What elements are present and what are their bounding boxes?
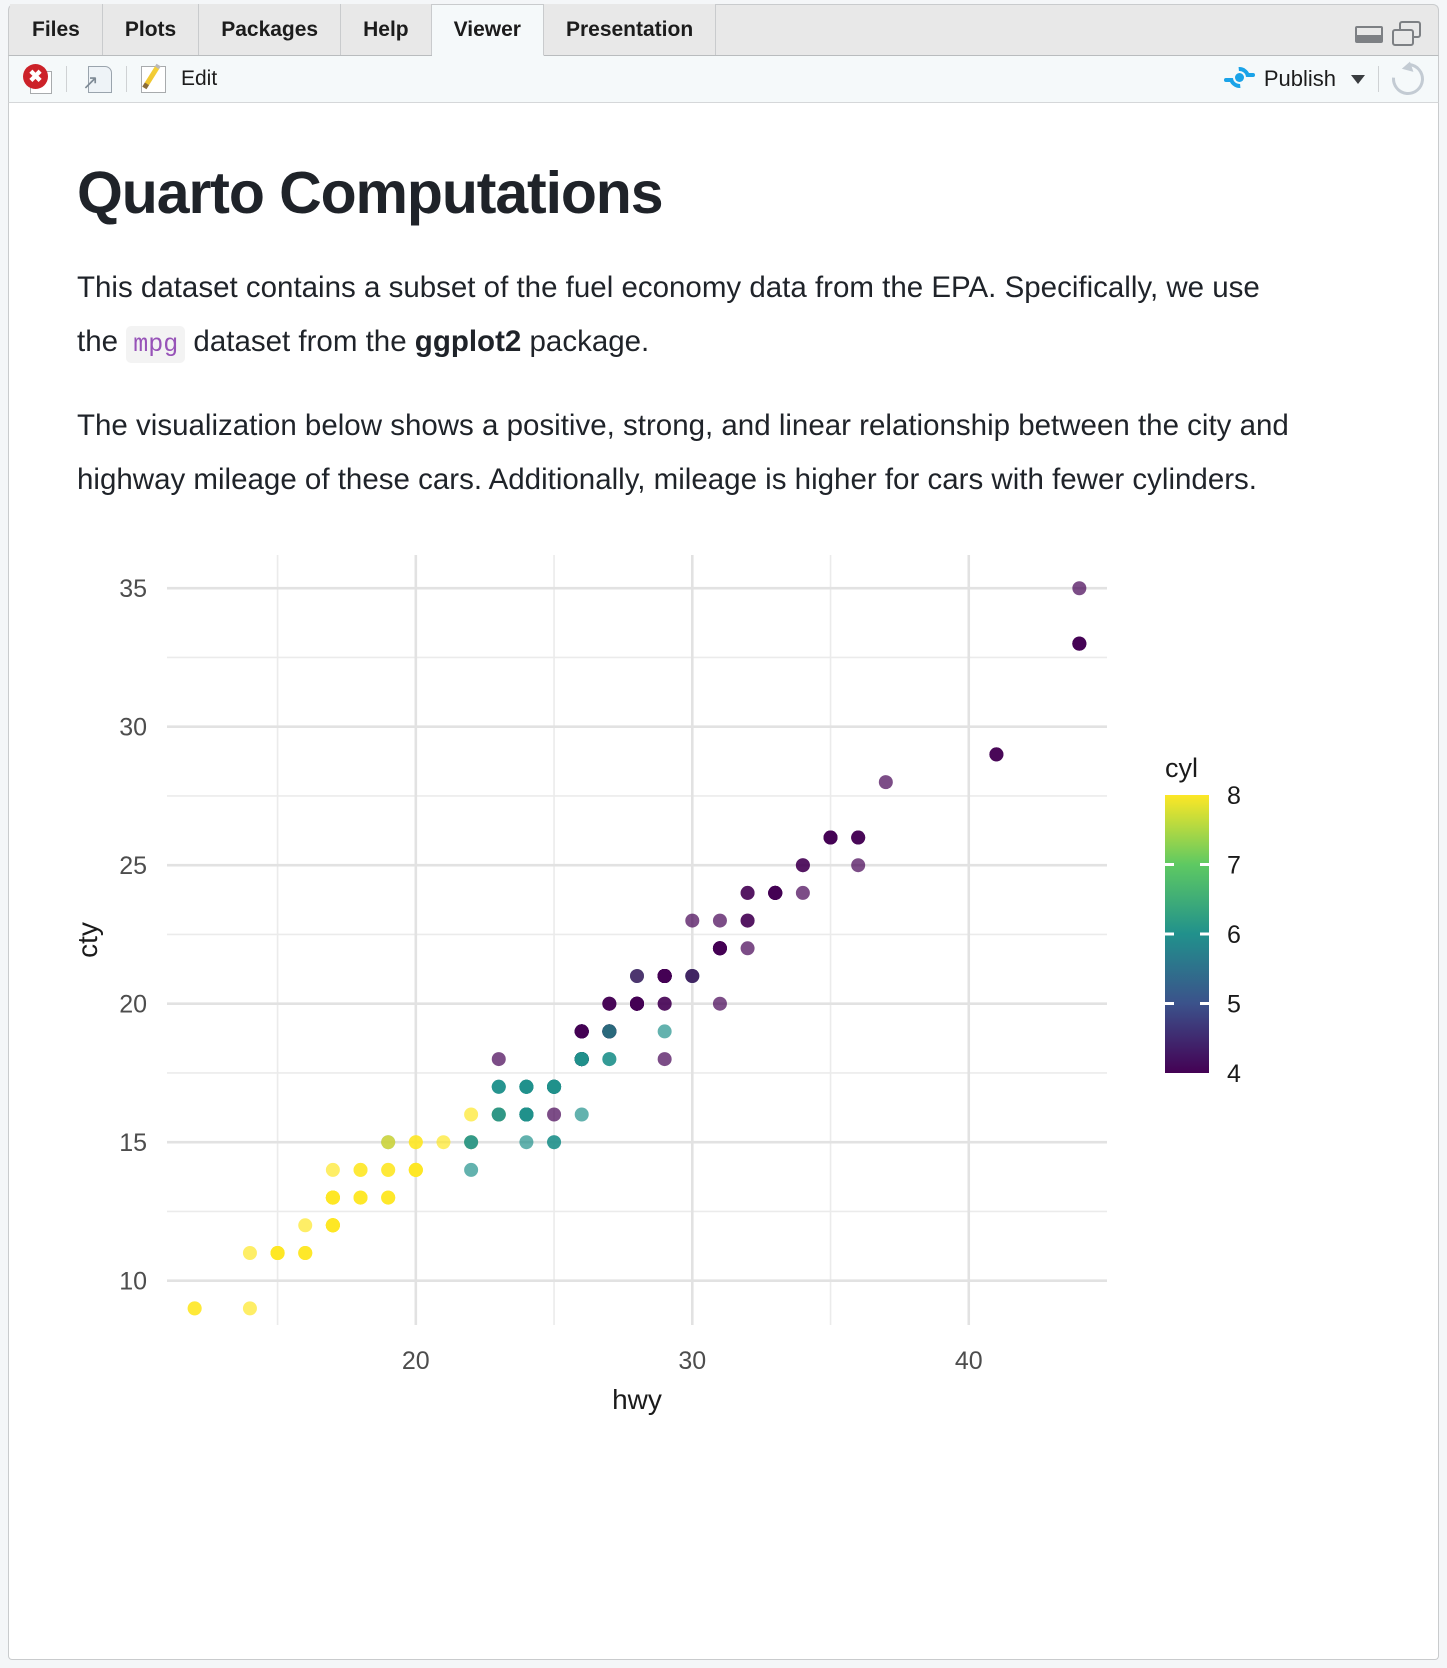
- data-point: [492, 1080, 506, 1094]
- data-point: [271, 1246, 285, 1260]
- data-point: [602, 1024, 616, 1038]
- data-point: [547, 1107, 561, 1121]
- data-point: [464, 1107, 478, 1121]
- tab-label: Packages: [221, 18, 318, 42]
- tab-packages[interactable]: Packages: [199, 4, 341, 55]
- inline-code-mpg: mpg: [126, 326, 185, 363]
- x-tick-label: 40: [955, 1347, 983, 1375]
- legend-title: cyl: [1165, 753, 1198, 783]
- y-tick-label: 10: [119, 1268, 147, 1296]
- data-point: [575, 1052, 589, 1066]
- plot-panel: [167, 555, 1107, 1325]
- data-point: [381, 1163, 395, 1177]
- viewer-content: Quarto Computations This dataset contain…: [8, 103, 1439, 1660]
- data-point: [409, 1135, 423, 1149]
- stop-button[interactable]: ✖: [23, 64, 53, 94]
- data-point: [575, 1107, 589, 1121]
- paragraph-visualization-description: The visualization below shows a positive…: [77, 399, 1292, 507]
- data-point: [1072, 581, 1086, 595]
- show-in-new-window-button[interactable]: ↗: [80, 64, 113, 94]
- data-point: [768, 886, 782, 900]
- y-tick-label: 30: [119, 714, 147, 742]
- data-point: [464, 1163, 478, 1177]
- data-point: [658, 997, 672, 1011]
- data-point: [685, 914, 699, 928]
- data-point: [713, 941, 727, 955]
- publish-label: Publish: [1264, 66, 1336, 92]
- legend-tick-label: 8: [1227, 782, 1241, 810]
- tab-help[interactable]: Help: [341, 4, 432, 55]
- y-tick-label: 20: [119, 991, 147, 1019]
- data-point: [602, 997, 616, 1011]
- data-point: [713, 914, 727, 928]
- refresh-icon[interactable]: [1385, 56, 1430, 101]
- paragraph-text: dataset from the: [185, 325, 415, 358]
- data-point: [464, 1135, 478, 1149]
- data-point: [547, 1135, 561, 1149]
- tab-plots[interactable]: Plots: [103, 4, 199, 55]
- data-point: [354, 1191, 368, 1205]
- data-point: [381, 1191, 395, 1205]
- data-point: [243, 1246, 257, 1260]
- legend-tick-label: 4: [1227, 1060, 1241, 1088]
- legend-tick-label: 7: [1227, 851, 1241, 879]
- data-point: [575, 1024, 589, 1038]
- tab-label: Help: [363, 18, 409, 42]
- data-point: [796, 886, 810, 900]
- edit-button[interactable]: Edit: [140, 64, 217, 94]
- tab-presentation[interactable]: Presentation: [544, 4, 716, 55]
- viewer-toolbar: ✖ ↗ Edit Publish: [8, 56, 1439, 103]
- data-point: [741, 941, 755, 955]
- viewer-pane: Files Plots Packages Help Viewer Present…: [8, 4, 1439, 1660]
- chevron-down-icon[interactable]: [1351, 75, 1365, 84]
- data-point: [851, 858, 865, 872]
- tab-label: Files: [32, 18, 80, 42]
- data-point: [989, 747, 1003, 761]
- edit-icon: [140, 64, 172, 94]
- data-point: [1072, 637, 1086, 651]
- data-point: [879, 775, 893, 789]
- publish-button[interactable]: Publish: [1224, 66, 1336, 92]
- tab-label: Presentation: [566, 18, 693, 42]
- paragraph-dataset-description: This dataset contains a subset of the fu…: [77, 261, 1292, 369]
- data-point: [436, 1135, 450, 1149]
- data-point: [824, 830, 838, 844]
- toolbar-divider: [126, 66, 127, 92]
- data-point: [298, 1246, 312, 1260]
- stop-icon: ✖: [23, 64, 53, 94]
- data-point: [326, 1163, 340, 1177]
- data-point: [519, 1080, 533, 1094]
- plot-svg: 203040101520253035hwyctycyl87654: [67, 537, 1307, 1437]
- tab-strip: Files Plots Packages Help Viewer Present…: [8, 4, 1439, 56]
- data-point: [713, 997, 727, 1011]
- maximize-icon[interactable]: [1392, 21, 1422, 47]
- data-point: [630, 969, 644, 983]
- toolbar-divider: [66, 66, 67, 92]
- legend-tick-label: 6: [1227, 921, 1241, 949]
- data-point: [602, 1052, 616, 1066]
- scatter-plot: 203040101520253035hwyctycyl87654: [67, 537, 1374, 1437]
- tab-label: Plots: [125, 18, 176, 42]
- data-point: [492, 1052, 506, 1066]
- y-axis-title: cty: [72, 922, 103, 958]
- data-point: [188, 1301, 202, 1315]
- data-point: [685, 969, 699, 983]
- data-point: [741, 886, 755, 900]
- tab-files[interactable]: Files: [10, 4, 103, 55]
- toolbar-divider: [1378, 66, 1379, 92]
- data-point: [492, 1107, 506, 1121]
- x-tick-label: 20: [402, 1347, 430, 1375]
- legend-tick-label: 5: [1227, 990, 1241, 1018]
- data-point: [519, 1135, 533, 1149]
- data-point: [658, 969, 672, 983]
- x-axis-title: hwy: [612, 1384, 662, 1415]
- data-point: [658, 1052, 672, 1066]
- data-point: [354, 1163, 368, 1177]
- y-tick-label: 35: [119, 575, 147, 603]
- show-in-new-window-icon: ↗: [80, 64, 113, 94]
- data-point: [796, 858, 810, 872]
- data-point: [243, 1301, 257, 1315]
- data-point: [547, 1080, 561, 1094]
- page-title: Quarto Computations: [77, 159, 1374, 227]
- data-point: [326, 1218, 340, 1232]
- data-point: [381, 1135, 395, 1149]
- data-point: [519, 1107, 533, 1121]
- y-tick-label: 25: [119, 852, 147, 880]
- x-tick-label: 30: [678, 1347, 706, 1375]
- minimize-icon[interactable]: [1355, 26, 1383, 43]
- toolbar-right-group: Publish: [1224, 63, 1424, 95]
- data-point: [851, 830, 865, 844]
- edit-label: Edit: [181, 67, 217, 91]
- data-point: [298, 1218, 312, 1232]
- publish-icon: [1224, 66, 1255, 92]
- tab-label: Viewer: [454, 18, 521, 42]
- data-point: [741, 914, 755, 928]
- tab-viewer[interactable]: Viewer: [432, 5, 544, 56]
- data-point: [630, 997, 644, 1011]
- data-point: [409, 1163, 423, 1177]
- strong-ggplot2: ggplot2: [415, 325, 522, 358]
- window-controls: [1355, 21, 1438, 55]
- y-tick-label: 15: [119, 1129, 147, 1157]
- paragraph-text: package.: [521, 325, 649, 358]
- data-point: [658, 1024, 672, 1038]
- data-point: [326, 1191, 340, 1205]
